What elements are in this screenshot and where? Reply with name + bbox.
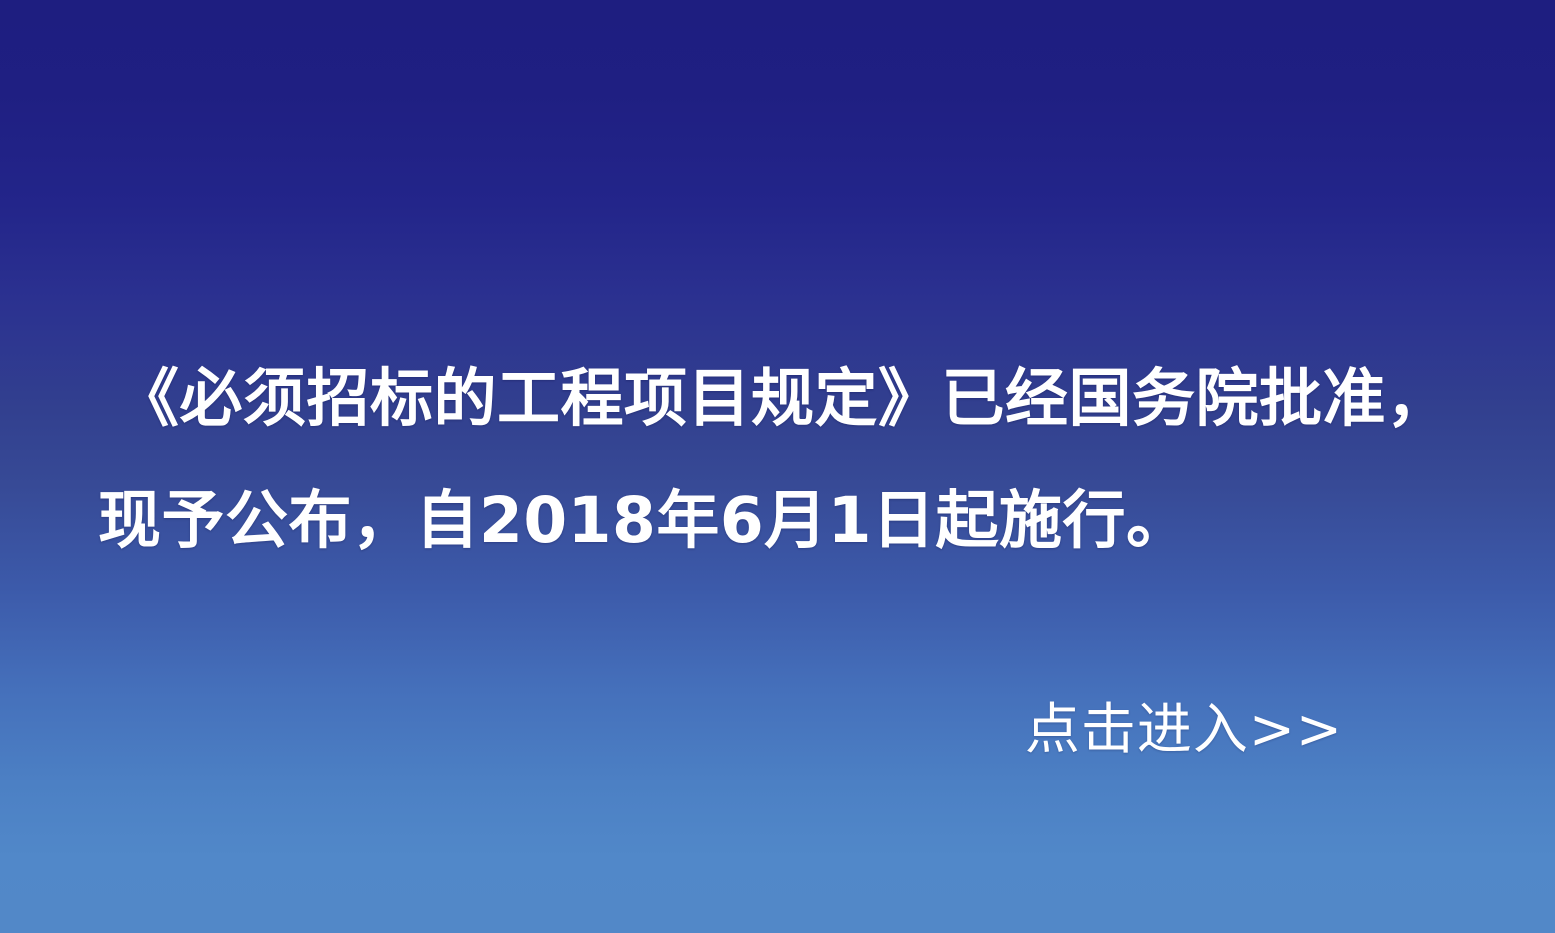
enter-link[interactable]: 点击进入>> — [1025, 693, 1343, 765]
cta-row: 点击进入>> — [0, 693, 1555, 765]
headline-line-1: 《必须招标的工程项目规定》已经国务院批准， — [76, 338, 1479, 460]
headline-block: 《必须招标的工程项目规定》已经国务院批准， 现予公布，自2018年6月1日起施行… — [0, 338, 1555, 582]
headline-line-2: 现予公布，自2018年6月1日起施行。 — [76, 460, 1479, 582]
promo-banner: 《必须招标的工程项目规定》已经国务院批准， 现予公布，自2018年6月1日起施行… — [0, 0, 1555, 933]
